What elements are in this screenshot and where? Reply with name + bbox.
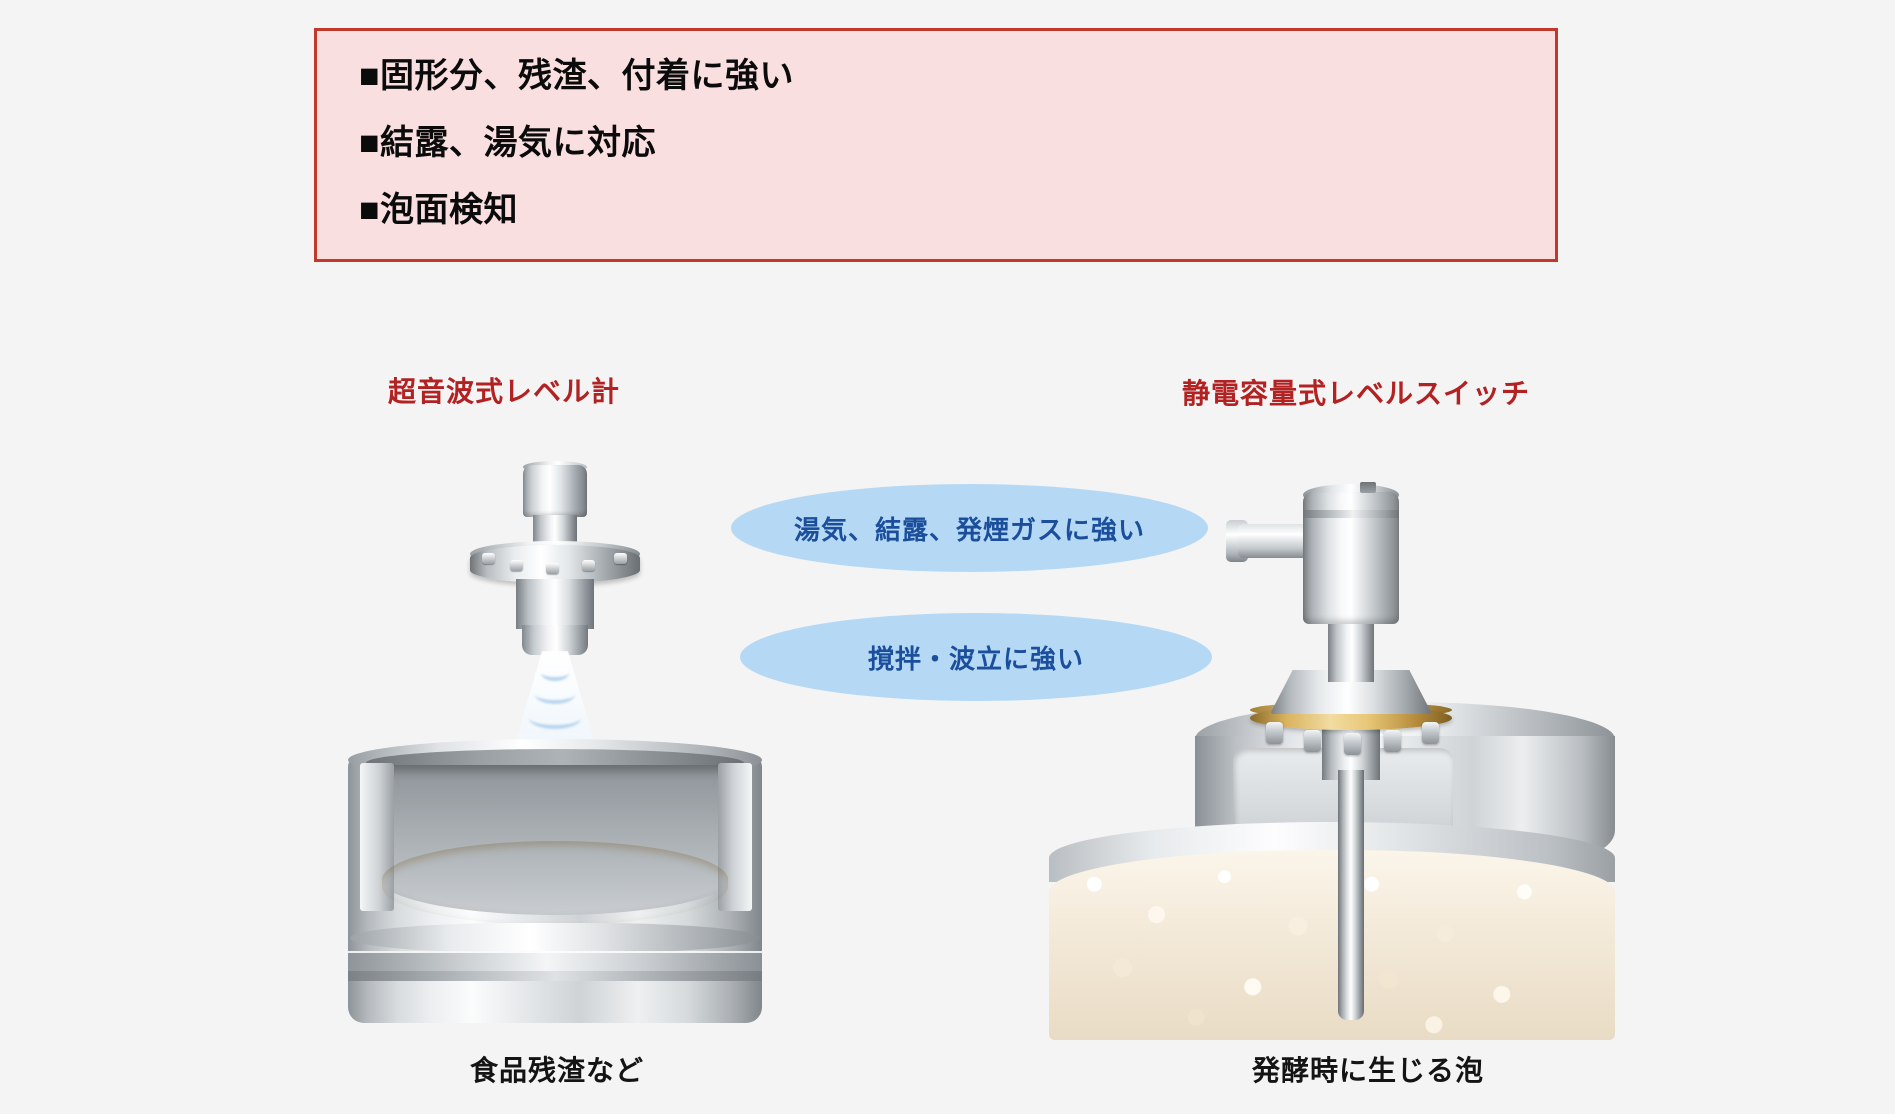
flange-bolt-icon <box>582 560 595 571</box>
switch-stem-icon <box>1328 620 1374 682</box>
sensor-body-icon <box>516 579 594 629</box>
feature-list-item: ■泡面検知 <box>359 193 1555 227</box>
ultrasonic-level-sensor-title: 超音波式レベル計 <box>388 370 620 410</box>
tank-band <box>350 923 760 953</box>
left-illustration-caption: 食品残渣など <box>470 1049 644 1089</box>
tank-band <box>348 971 762 981</box>
feature-list: ■固形分、残渣、付着に強い ■結露、湯気に対応 ■泡面検知 <box>317 31 1555 227</box>
flange-bolt-icon <box>1422 722 1439 744</box>
sensor-cap-icon <box>523 465 587 517</box>
capacitance-probe-rod-icon <box>1338 770 1364 1020</box>
flange-bolt-icon <box>1344 733 1361 755</box>
cable-connector-icon <box>1238 524 1310 558</box>
feature-callout-box: ■固形分、残渣、付着に強い ■結露、湯気に対応 ■泡面検知 <box>314 28 1558 262</box>
switch-housing-ring-icon <box>1303 510 1399 518</box>
capacitance-level-switch-title: 静電容量式レベルスイッチ <box>1182 372 1530 412</box>
feature-list-item: ■固形分、残渣、付着に強い <box>359 59 1555 93</box>
flange-bolt-icon <box>510 560 523 571</box>
flange-bolt-icon <box>614 553 627 564</box>
flange-bolt-icon <box>1266 722 1283 744</box>
flange-bolt-icon <box>482 553 495 564</box>
food-residue-contents <box>382 841 728 925</box>
food-residue-tank <box>330 755 780 1040</box>
switch-housing-notch-icon <box>1360 482 1376 493</box>
feature-list-item: ■結露、湯気に対応 <box>359 126 1555 160</box>
ultrasonic-level-sensor-illustration <box>330 455 780 1040</box>
flange-bolt-icon <box>1304 730 1321 752</box>
beam-arc-icon <box>541 665 569 681</box>
tank-band <box>348 951 762 973</box>
right-illustration-caption: 発酵時に生じる泡 <box>1252 1049 1484 1089</box>
flange-bolt-icon <box>1384 730 1401 752</box>
flange-bolt-icon <box>546 563 559 574</box>
beam-arc-icon <box>529 707 581 729</box>
fermentation-foam-contents <box>1049 850 1615 1040</box>
capacitance-level-switch-illustration <box>1060 470 1620 1040</box>
beam-arc-icon <box>535 685 575 704</box>
benefit-ellipse-label: 撹拌・波立に強い <box>868 639 1084 676</box>
